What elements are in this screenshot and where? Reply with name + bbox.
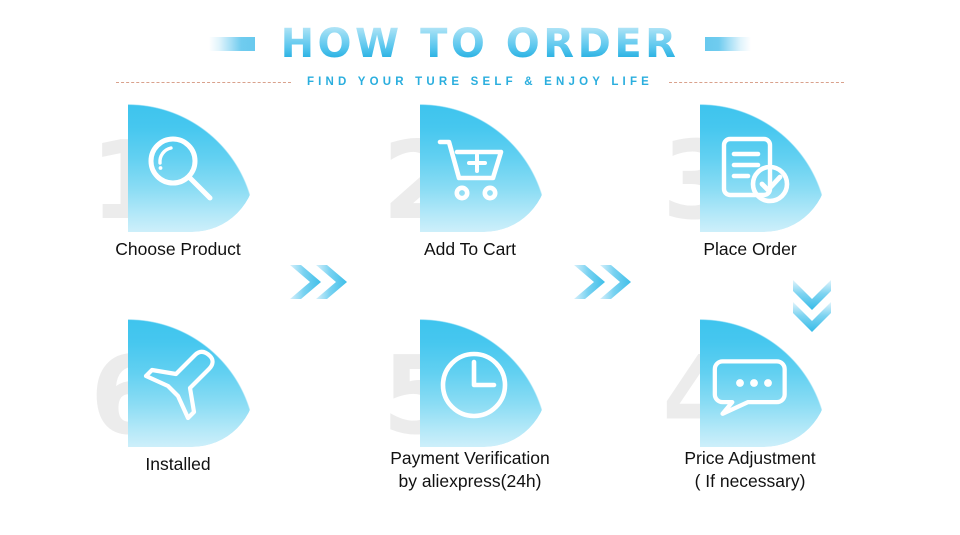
step-3[interactable]: 3 Place Order: [600, 100, 900, 290]
how-to-order-infographic: HOW TO ORDER FIND YOUR TURE SELF & ENJOY…: [0, 0, 960, 535]
steps-row-top: 1 Choose Product 2: [0, 100, 960, 290]
cart-plus-icon: [432, 128, 516, 212]
chevron-right-1-icon: [288, 262, 350, 302]
subtitle-row: FIND YOUR TURE SELF & ENJOY LIFE: [0, 72, 960, 92]
chevron-right-2-icon: [572, 262, 634, 302]
title-row: HOW TO ORDER: [0, 22, 960, 66]
step-4-visual: 4: [600, 315, 900, 450]
step-5[interactable]: 5 Payment Verification by aliexpress(24h…: [320, 315, 620, 505]
header: HOW TO ORDER FIND YOUR TURE SELF & ENJOY…: [0, 0, 960, 100]
dashed-rule-right-icon: [669, 82, 844, 83]
speech-bubble-icon: [712, 343, 796, 427]
page-subtitle: FIND YOUR TURE SELF & ENJOY LIFE: [307, 76, 653, 88]
step-3-label: Place Order: [600, 238, 900, 261]
step-1[interactable]: 1 Choose Product: [28, 100, 328, 290]
title-decoration-right-icon: [705, 37, 751, 51]
dashed-rule-left-icon: [116, 82, 291, 83]
step-1-label: Choose Product: [28, 238, 328, 261]
clock-icon: [432, 343, 516, 427]
page-title: HOW TO ORDER: [281, 24, 680, 64]
step-6-visual: 6: [28, 315, 328, 450]
step-6-label: Installed: [28, 453, 328, 476]
step-4-label: Price Adjustment ( If necessary): [600, 447, 900, 494]
steps-row-bottom: 6 Installed 5: [0, 315, 960, 505]
step-2-label: Add To Cart: [320, 238, 620, 261]
chevron-down-1-icon: [790, 278, 834, 334]
step-4[interactable]: 4 Price Adjustment ( If necessary): [600, 315, 900, 505]
step-5-label: Payment Verification by aliexpress(24h): [320, 447, 620, 494]
step-2-visual: 2: [320, 100, 620, 235]
title-decoration-left-icon: [209, 37, 255, 51]
airplane-icon: [140, 343, 224, 427]
step-1-visual: 1: [28, 100, 328, 235]
step-3-visual: 3: [600, 100, 900, 235]
document-check-icon: [712, 128, 796, 212]
magnifier-icon: [140, 128, 224, 212]
step-5-visual: 5: [320, 315, 620, 450]
step-6[interactable]: 6 Installed: [28, 315, 328, 505]
